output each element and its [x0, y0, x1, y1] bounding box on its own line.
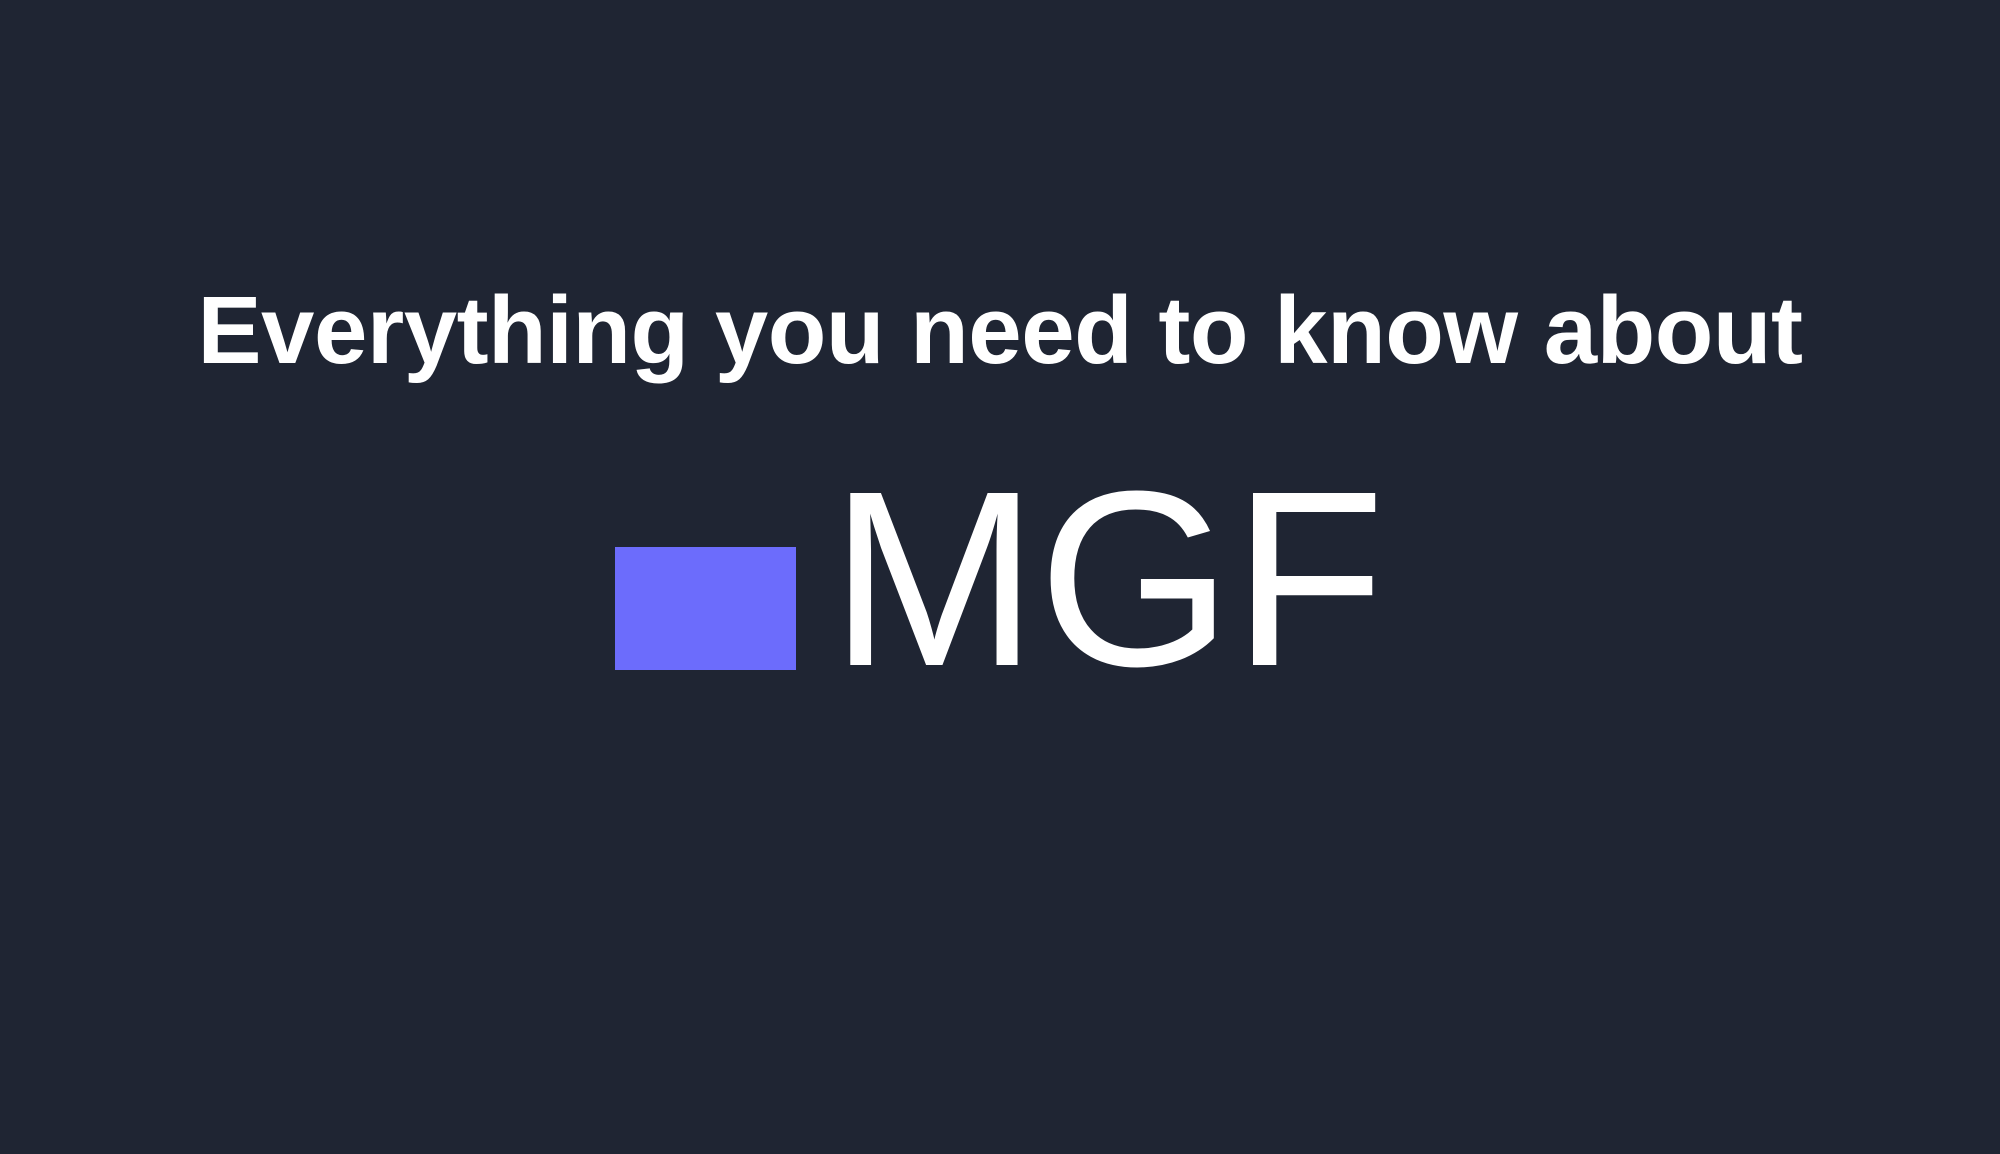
brand-container: MGF	[0, 380, 2000, 670]
headline-container: Everything you need to know about	[0, 0, 2000, 380]
brand-square-icon	[615, 547, 796, 670]
brand-name: MGF	[830, 488, 1385, 670]
page-title: Everything you need to know about	[198, 283, 1803, 380]
title-slide: Everything you need to know about MGF	[0, 0, 2000, 1154]
brand-lockup: MGF	[615, 488, 1385, 670]
